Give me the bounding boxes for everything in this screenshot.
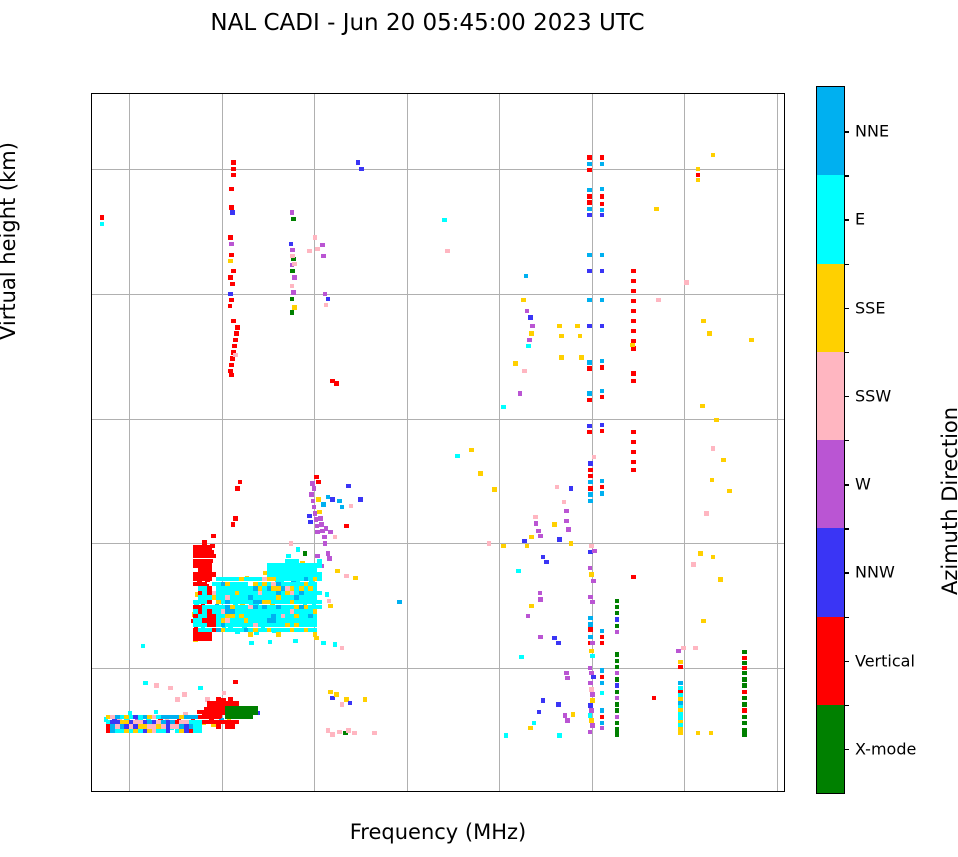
echo-point — [693, 646, 698, 650]
page-title: NAL CADI - Jun 20 05:45:00 2023 UTC — [0, 10, 855, 36]
echo-point — [742, 677, 747, 681]
echo-point — [313, 595, 318, 599]
colorbar-label: Azimuth Direction — [938, 407, 958, 595]
echo-point — [600, 208, 605, 212]
echo-point — [313, 577, 318, 581]
colorbar-segment-ssw[interactable] — [817, 352, 844, 440]
echo-point — [600, 359, 605, 363]
y-tick-mark — [91, 169, 92, 170]
colorbar-boundary-tick — [844, 617, 849, 618]
echo-point — [229, 363, 234, 367]
echo-point — [244, 710, 249, 714]
echo-point — [189, 724, 194, 728]
echo-point — [258, 614, 263, 618]
echo-point — [557, 733, 562, 737]
echo-point — [313, 618, 318, 622]
echo-point — [518, 391, 523, 395]
echo-point — [654, 207, 659, 211]
echo-point — [575, 324, 580, 328]
echo-point — [711, 446, 716, 450]
echo-point — [330, 497, 335, 501]
echo-point — [276, 632, 281, 636]
echo-point — [193, 554, 198, 558]
echo-point — [590, 698, 595, 702]
echo-point — [290, 591, 295, 595]
y-tick-mark — [91, 419, 92, 420]
colorbar[interactable]: NNEESSESSWWNNWVerticalX-mode — [816, 86, 845, 794]
echo-point — [700, 404, 705, 408]
echo-point — [615, 665, 620, 669]
echo-point — [600, 491, 605, 495]
echo-point — [313, 609, 318, 613]
echo-point — [537, 710, 542, 714]
colorbar-segment-x-mode[interactable] — [817, 705, 844, 793]
echo-point — [317, 591, 322, 595]
x-tick-mark — [407, 791, 408, 792]
echo-point — [681, 646, 686, 650]
echo-point — [631, 440, 636, 444]
echo-point — [189, 715, 194, 719]
echo-point — [631, 379, 636, 383]
echo-point — [248, 706, 253, 710]
echo-point — [742, 661, 747, 665]
echo-point — [615, 671, 620, 675]
echo-point — [216, 720, 221, 724]
echo-point — [587, 194, 592, 198]
echo-point — [600, 668, 605, 672]
colorbar-segment-vertical[interactable] — [817, 617, 844, 705]
echo-point — [587, 269, 592, 273]
echo-point — [566, 527, 571, 531]
echo-point — [207, 609, 212, 613]
echo-point — [631, 309, 636, 313]
colorbar-segment-w[interactable] — [817, 440, 844, 528]
echo-point — [235, 486, 240, 490]
echo-point — [202, 720, 207, 724]
echo-point — [294, 595, 299, 599]
echo-point — [588, 474, 593, 478]
echo-point — [742, 690, 747, 694]
echo-point — [202, 572, 207, 576]
echo-point — [698, 551, 703, 555]
echo-point — [631, 575, 636, 579]
echo-point — [235, 600, 240, 604]
echo-point — [333, 535, 338, 539]
echo-point — [541, 555, 546, 559]
echo-point — [534, 521, 539, 525]
echo-point — [299, 618, 304, 622]
echo-point — [591, 579, 596, 583]
echo-point — [271, 582, 276, 586]
echo-point — [110, 729, 115, 733]
echo-point — [579, 355, 584, 359]
echo-point — [230, 282, 235, 286]
echo-point — [631, 269, 636, 273]
echo-point — [318, 516, 323, 520]
echo-point — [271, 568, 276, 572]
echo-point — [356, 160, 361, 164]
echo-point — [221, 609, 226, 613]
echo-point — [587, 200, 592, 204]
echo-point — [587, 168, 592, 172]
echo-point — [704, 511, 709, 515]
echo-point — [600, 365, 605, 369]
echo-point — [615, 732, 620, 736]
echo-point — [308, 563, 313, 567]
echo-point — [330, 696, 335, 700]
echo-point — [290, 297, 295, 301]
echo-point — [615, 624, 620, 628]
echo-point — [588, 492, 593, 496]
echo-point — [216, 724, 221, 728]
echo-point — [528, 315, 533, 319]
echo-point — [701, 319, 706, 323]
echo-point — [235, 720, 240, 724]
echo-point — [337, 499, 342, 503]
echo-point — [742, 683, 747, 687]
echo-point — [313, 632, 318, 636]
echo-point — [552, 522, 557, 526]
echo-point — [323, 541, 328, 545]
echo-point — [299, 605, 304, 609]
echo-point — [230, 724, 235, 728]
echo-point — [678, 681, 683, 685]
echo-point — [304, 582, 309, 586]
echo-point — [307, 249, 312, 253]
echo-point — [615, 617, 620, 621]
echo-point — [587, 430, 592, 434]
echo-point — [678, 731, 683, 735]
echo-point — [569, 486, 574, 490]
echo-point — [262, 577, 267, 581]
echo-point — [313, 614, 318, 618]
echo-point — [590, 654, 595, 658]
echo-point — [193, 720, 198, 724]
echo-point — [248, 715, 253, 719]
echo-point — [235, 325, 240, 329]
echo-point — [631, 329, 636, 333]
echo-point — [742, 656, 747, 660]
echo-point — [516, 569, 521, 573]
echo-point — [291, 217, 296, 221]
echo-point — [522, 369, 527, 373]
echo-point — [294, 559, 299, 563]
echo-point — [340, 702, 345, 706]
echo-point — [600, 389, 605, 393]
echo-point — [492, 487, 497, 491]
echo-point — [276, 605, 281, 609]
echo-point — [202, 586, 207, 590]
echo-point — [143, 729, 148, 733]
echo-point — [590, 723, 595, 727]
echo-point — [525, 544, 530, 548]
echo-point — [631, 319, 636, 323]
echo-point — [742, 721, 747, 725]
echo-point — [202, 554, 207, 558]
echo-point — [541, 698, 546, 702]
echo-point — [207, 628, 212, 632]
echo-point — [230, 614, 235, 618]
colorbar-boundary-tick — [844, 705, 849, 706]
echo-point — [294, 614, 299, 618]
echo-point — [268, 640, 273, 644]
echo-point — [175, 715, 180, 719]
echo-point — [615, 630, 620, 634]
echo-point — [529, 331, 534, 335]
echo-point — [749, 338, 754, 342]
echo-point — [293, 639, 298, 643]
echo-point — [358, 497, 363, 501]
echo-point — [207, 577, 212, 581]
echo-point — [216, 628, 221, 632]
echo-point — [538, 534, 543, 538]
echo-point — [229, 242, 234, 246]
echo-point — [590, 600, 595, 604]
echo-point — [253, 614, 258, 618]
echo-point — [244, 715, 249, 719]
echo-point — [600, 708, 605, 712]
echo-point — [276, 618, 281, 622]
echo-point — [711, 153, 716, 157]
echo-point — [707, 331, 712, 335]
echo-point — [271, 563, 276, 567]
echo-point — [600, 691, 605, 695]
echo-point — [258, 623, 263, 627]
echo-point — [600, 715, 605, 719]
plot-area[interactable]: 02004006008001000246810121416 — [91, 93, 785, 792]
echo-point — [294, 623, 299, 627]
echo-point — [533, 515, 538, 519]
echo-point — [317, 572, 322, 576]
echo-point — [742, 666, 747, 670]
echo-point — [231, 269, 236, 273]
echo-point — [193, 715, 198, 719]
echo-point — [330, 732, 335, 736]
echo-point — [184, 729, 189, 733]
echo-point — [231, 319, 236, 323]
echo-point — [321, 641, 326, 645]
echo-point — [285, 586, 290, 590]
echo-point — [100, 222, 105, 226]
echo-point — [312, 486, 317, 490]
echo-point — [154, 710, 159, 714]
echo-point — [544, 560, 549, 564]
echo-point — [600, 629, 605, 633]
echo-point — [349, 504, 354, 508]
echo-point — [631, 346, 636, 350]
echo-point — [588, 480, 593, 484]
echo-point — [248, 632, 253, 636]
y-tick-mark — [91, 668, 92, 669]
echo-point — [202, 614, 207, 618]
echo-point — [168, 686, 173, 690]
x-tick-mark — [592, 791, 593, 792]
echo-point — [207, 559, 212, 563]
echo-point — [317, 605, 322, 609]
echo-point — [455, 454, 460, 458]
echo-point — [292, 305, 297, 309]
echo-point — [530, 324, 535, 328]
echo-point — [600, 155, 605, 159]
echo-point — [333, 642, 338, 646]
echo-point — [152, 729, 157, 733]
echo-point — [525, 309, 530, 313]
echo-point — [587, 424, 592, 428]
colorbar-segment-nne[interactable] — [817, 87, 844, 175]
echo-point — [308, 614, 313, 618]
echo-point — [600, 187, 605, 191]
echo-point — [230, 706, 235, 710]
echo-point — [600, 635, 605, 639]
echo-point — [193, 632, 198, 636]
echo-point — [615, 696, 620, 700]
echo-point — [714, 418, 719, 422]
echo-point — [307, 514, 312, 518]
echo-point — [271, 618, 276, 622]
echo-point — [600, 324, 605, 328]
echo-point — [588, 461, 593, 465]
echo-point — [198, 686, 203, 690]
echo-point — [100, 215, 105, 219]
echo-point — [291, 290, 296, 294]
echo-point — [615, 683, 620, 687]
echo-point — [615, 702, 620, 706]
echo-point — [600, 681, 605, 685]
colorbar-segment-sse[interactable] — [817, 264, 844, 352]
echo-point — [202, 632, 207, 636]
echo-point — [141, 644, 146, 648]
echo-point — [587, 398, 592, 402]
echo-point — [600, 162, 605, 166]
echo-point — [559, 334, 564, 338]
echo-point — [588, 703, 593, 707]
echo-point — [334, 381, 339, 385]
echo-point — [281, 568, 286, 572]
echo-point — [228, 275, 233, 279]
echo-point — [631, 468, 636, 472]
echo-point — [235, 582, 240, 586]
echo-point — [124, 729, 129, 733]
echo-point — [289, 242, 294, 246]
echo-point — [156, 729, 161, 733]
echo-point — [193, 609, 198, 613]
echo-point — [212, 628, 217, 632]
echo-point — [562, 500, 567, 504]
echo-point — [587, 188, 592, 192]
echo-point — [231, 160, 236, 164]
echo-point — [600, 641, 605, 645]
echo-point — [372, 731, 377, 735]
echo-point — [327, 556, 332, 560]
echo-point — [230, 618, 235, 622]
echo-point — [325, 592, 330, 596]
echo-point — [207, 586, 212, 590]
echo-point — [262, 605, 267, 609]
echo-point — [276, 582, 281, 586]
echo-point — [182, 692, 187, 696]
echo-point — [225, 595, 230, 599]
echo-point — [222, 691, 227, 695]
echo-point — [519, 655, 524, 659]
echo-point — [353, 576, 358, 580]
echo-point — [286, 554, 291, 558]
colorbar-label-nne: NNE — [855, 122, 889, 141]
echo-point — [225, 724, 230, 728]
echo-point — [615, 652, 620, 656]
colorbar-tick — [844, 572, 849, 573]
echo-point — [600, 202, 605, 206]
colorbar-tick — [844, 308, 849, 309]
echo-point — [469, 448, 474, 452]
x-tick-mark — [499, 791, 500, 792]
echo-point — [207, 706, 212, 710]
colorbar-segment-nnw[interactable] — [817, 528, 844, 616]
echo-point — [228, 259, 233, 263]
echo-point — [630, 343, 635, 347]
echo-point — [225, 605, 230, 609]
echo-point — [228, 292, 233, 296]
echo-point — [290, 248, 295, 252]
colorbar-boundary-tick — [844, 440, 849, 441]
echo-point — [600, 423, 605, 427]
echo-point — [600, 269, 605, 273]
echo-point — [234, 331, 239, 335]
echo-point — [615, 690, 620, 694]
echo-point — [348, 701, 353, 705]
colorbar-label-nnw: NNW — [855, 563, 895, 582]
echo-point — [538, 635, 543, 639]
echo-point — [529, 604, 534, 608]
echo-point — [587, 360, 592, 364]
echo-point — [221, 623, 226, 627]
x-tick-mark — [222, 791, 223, 792]
echo-point — [290, 563, 295, 567]
echo-point — [742, 696, 747, 700]
echo-point — [600, 485, 605, 489]
echo-point — [557, 324, 562, 328]
echo-point — [198, 586, 203, 590]
echo-point — [221, 582, 226, 586]
echo-point — [238, 480, 243, 484]
echo-point — [324, 303, 329, 307]
echo-point — [313, 623, 318, 627]
echo-point — [590, 641, 595, 645]
echo-point — [696, 167, 701, 171]
echo-point — [588, 616, 593, 620]
echo-point — [232, 344, 237, 348]
echo-point — [487, 541, 492, 545]
echo-point — [555, 485, 560, 489]
echo-point — [321, 254, 326, 258]
echo-point — [565, 718, 570, 722]
echo-point — [244, 577, 249, 581]
echo-point — [290, 284, 295, 288]
echo-point — [207, 720, 212, 724]
echo-point — [166, 729, 171, 733]
echo-point — [253, 623, 258, 627]
echo-point — [231, 173, 236, 177]
echo-point — [233, 338, 238, 342]
echo-point — [592, 455, 597, 459]
echo-point — [442, 218, 447, 222]
echo-point — [721, 458, 726, 462]
echo-point — [587, 162, 592, 166]
echo-point — [281, 577, 286, 581]
echo-point — [276, 591, 281, 595]
echo-point — [696, 731, 701, 735]
colorbar-segment-e[interactable] — [817, 175, 844, 263]
echo-point — [317, 563, 322, 567]
